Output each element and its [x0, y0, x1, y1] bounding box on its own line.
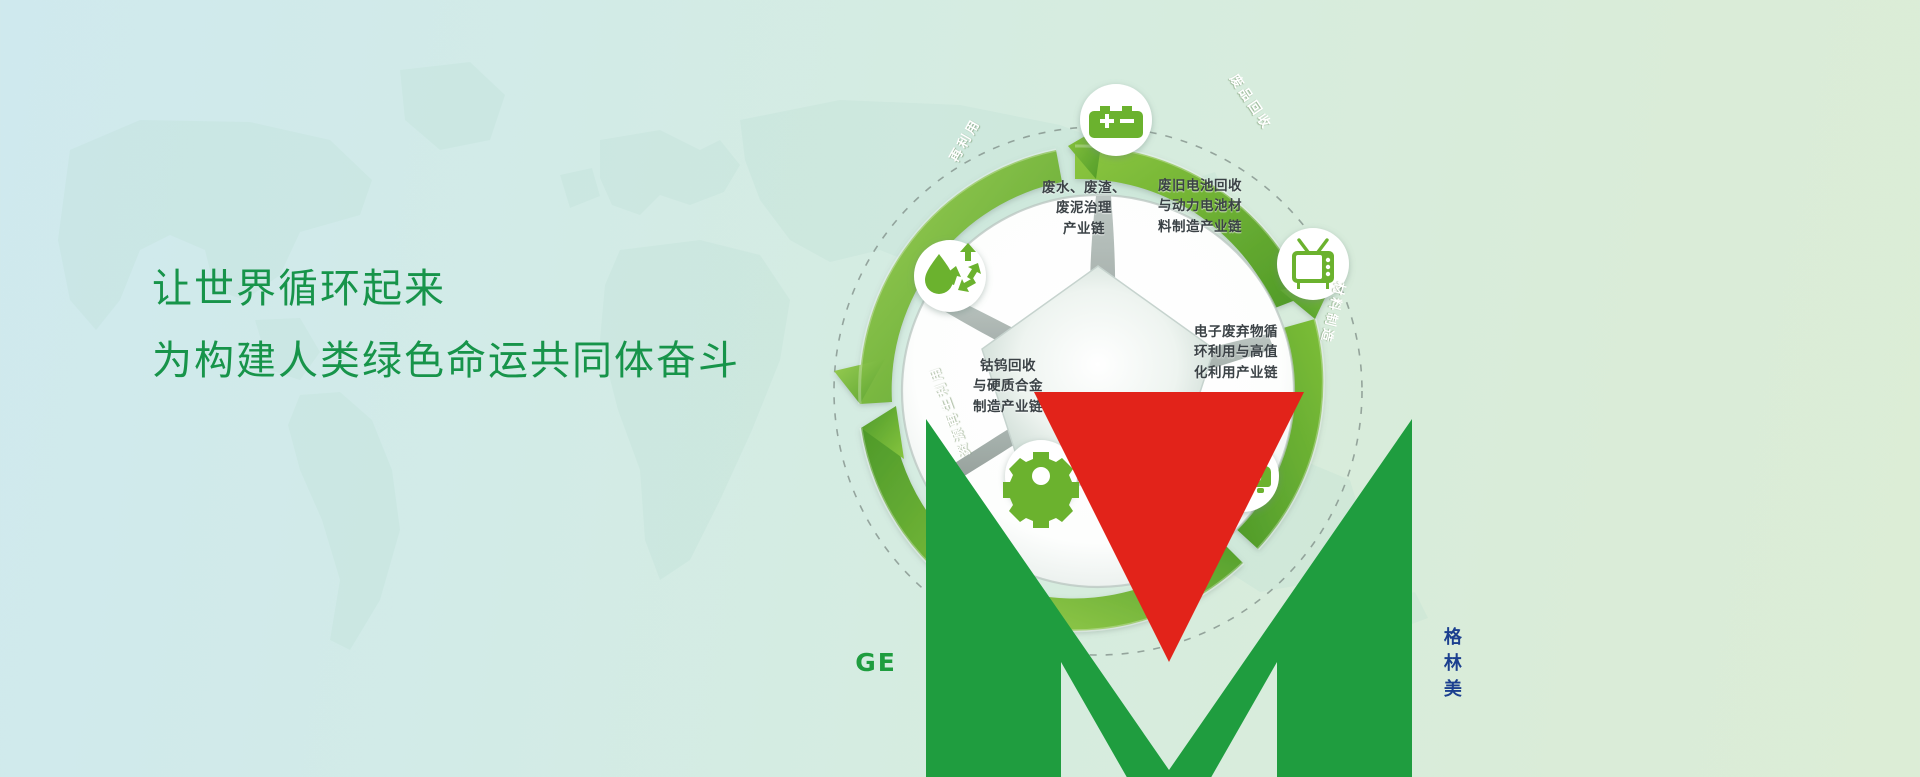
banner-headline: 让世界循环起来 为构建人类绿色命运共同体奋斗: [152, 258, 740, 392]
headline-line-2: 为构建人类绿色命运共同体奋斗: [152, 330, 740, 392]
headline-line-1: 让世界循环起来: [152, 258, 740, 320]
gem-logo: GE 格林美: [1059, 276, 1259, 777]
segment-label-battery: 废旧电池回收 与动力电池材 料制造产业链: [1115, 176, 1285, 237]
segment-label-line: 料制造产业链: [1115, 217, 1285, 237]
gem-logo-mark-icon: [899, 276, 1439, 777]
segment-label-line: 与动力电池材: [1115, 196, 1285, 216]
segment-label-line: 废旧电池回收: [1115, 176, 1285, 196]
five-industry-chain-diagram: 废水、废渣、 废泥治理 产业链 废旧电池回收 与动力电池材 料制造产业链 电子废…: [828, 4, 1368, 776]
gem-logo-chinese: 格林美: [1444, 623, 1463, 701]
gem-logo-word: GE: [855, 650, 897, 675]
gem-brand-block: GE 格林美 资源有限 循环无限 Recycling for future ! …: [1059, 276, 1259, 777]
